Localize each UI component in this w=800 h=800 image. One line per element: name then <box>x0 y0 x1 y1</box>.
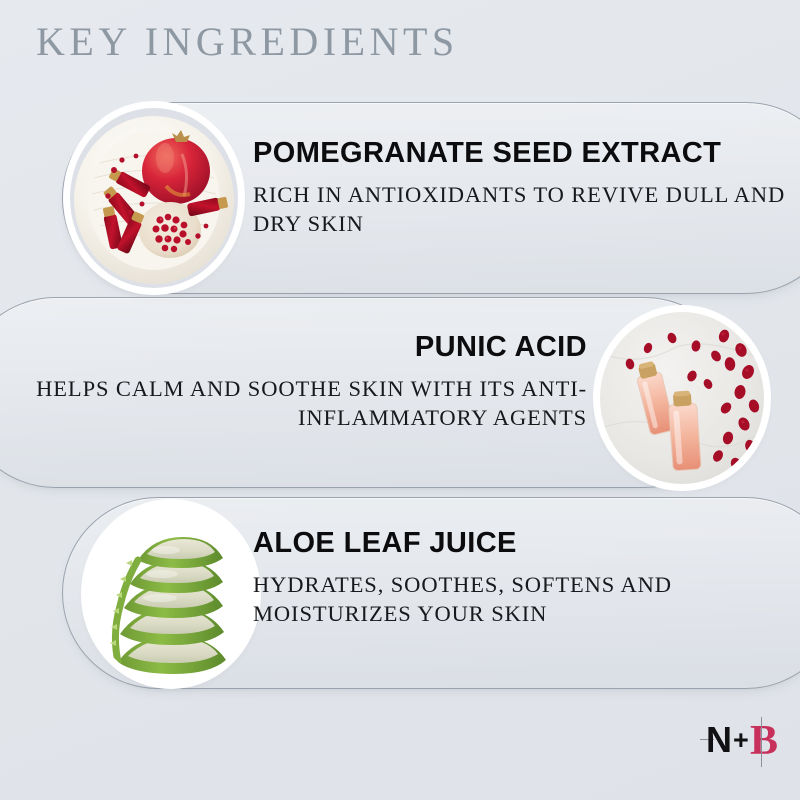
logo-letter-b: B <box>750 720 778 762</box>
ingredient-description-pomegranate: RICH IN ANTIOXIDANTS TO REVIVE DULL AND … <box>253 181 800 238</box>
aloe-illustration <box>88 506 254 682</box>
pomegranate-text-block: POMEGRANATE SEED EXTRACT RICH IN ANTIOXI… <box>253 138 800 238</box>
ingredient-description-aloe-leaf-juice: HYDRATES, SOOTHES, SOFTENS AND MOISTURIZ… <box>253 571 800 628</box>
logo-plus-icon: + <box>733 727 749 754</box>
ingredient-title-punic-acid: PUNIC ACID <box>0 332 587 362</box>
key-ingredients-infographic: KEY INGREDIENTS <box>0 0 800 800</box>
punic-acid-text-block: PUNIC ACID HELPS CALM AND SOOTHE SKIN WI… <box>0 332 587 432</box>
ingredient-title-aloe-leaf-juice: ALOE LEAF JUICE <box>253 528 800 558</box>
punic-acid-bottles-photo <box>600 312 764 484</box>
aloe-text-block: ALOE LEAF JUICE HYDRATES, SOOTHES, SOFTE… <box>253 528 800 628</box>
page-title: KEY INGREDIENTS <box>36 20 459 64</box>
pomegranate-illustration <box>70 108 238 288</box>
pomegranate-plate-photo <box>70 108 238 288</box>
brand-logo-n-plus-b: N + B <box>706 722 778 768</box>
logo-letter-n: N <box>706 722 732 758</box>
ingredient-title-pomegranate: POMEGRANATE SEED EXTRACT <box>253 138 800 168</box>
ingredient-description-punic-acid: HELPS CALM AND SOOTHE SKIN WITH ITS ANTI… <box>0 375 587 432</box>
punic-acid-illustration <box>600 312 764 484</box>
logo-vertical-rule <box>761 717 762 767</box>
aloe-leaf-slices-photo <box>88 506 254 682</box>
